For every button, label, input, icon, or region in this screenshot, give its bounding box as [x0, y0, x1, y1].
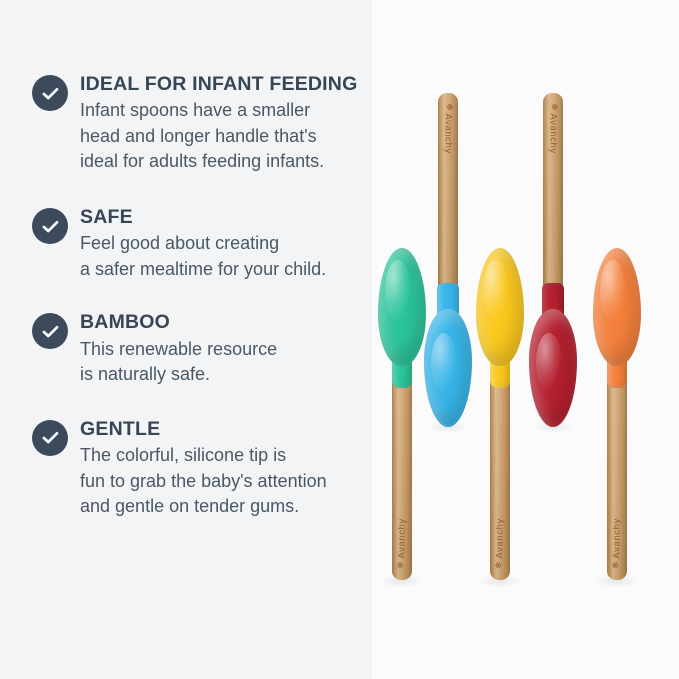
feature-line: is naturally safe.: [80, 362, 372, 388]
bamboo-handle: ❄Avanchy: [607, 378, 627, 580]
feature-title: IDEAL FOR INFANT FEEDING: [80, 72, 372, 96]
brand-name: Avanchy: [548, 113, 559, 153]
bamboo-handle: ❄Avanchy: [438, 93, 458, 291]
bamboo-handle: ❄Avanchy: [543, 93, 563, 291]
feature-title: BAMBOO: [80, 310, 372, 334]
feature-line: and gentle on tender gums.: [80, 494, 372, 520]
feature-description: Feel good about creating a safer mealtim…: [80, 231, 372, 282]
bee-logo-icon: ❄: [396, 561, 407, 569]
feature-description: This renewable resource is naturally saf…: [80, 337, 372, 388]
feature-title: SAFE: [80, 205, 372, 229]
feature-description: The colorful, silicone tip is fun to gra…: [80, 443, 372, 520]
feature-line: The colorful, silicone tip is: [80, 443, 372, 469]
feature-item-ideal-for-infant-feeding: IDEAL FOR INFANT FEEDING Infant spoons h…: [32, 72, 372, 175]
brand-name: Avanchy: [495, 518, 506, 558]
feature-line: fun to grab the baby's attention: [80, 469, 372, 495]
bamboo-handle: ❄Avanchy: [392, 378, 412, 580]
product-infographic: IDEAL FOR INFANT FEEDING Infant spoons h…: [0, 0, 679, 679]
silicone-bowl: [424, 283, 472, 427]
bee-logo-icon: ❄: [494, 561, 505, 569]
bee-logo-icon: ❄: [549, 103, 560, 111]
feature-item-gentle: GENTLE The colorful, silicone tip is fun…: [32, 417, 372, 520]
spoon-teal: ❄Avanchy: [378, 248, 426, 590]
feature-item-bamboo: BAMBOO This renewable resource is natura…: [32, 310, 372, 387]
brand-engraving: ❄Avanchy: [397, 509, 408, 579]
feature-line: This renewable resource: [80, 337, 372, 363]
check-circle-icon: [32, 208, 68, 244]
feature-description: Infant spoons have a smaller head and lo…: [80, 98, 372, 175]
brand-engraving: ❄Avanchy: [495, 509, 506, 579]
feature-item-safe: SAFE Feel good about creating a safer me…: [32, 205, 372, 282]
feature-line: Feel good about creating: [80, 231, 372, 257]
brand-engraving: ❄Avanchy: [443, 94, 454, 164]
brand-engraving: ❄Avanchy: [612, 509, 623, 579]
spoon-blue: ❄Avanchy: [424, 93, 472, 433]
brand-name: Avanchy: [397, 518, 408, 558]
check-circle-icon: [32, 313, 68, 349]
feature-title: GENTLE: [80, 417, 372, 441]
check-circle-icon: [32, 420, 68, 456]
feature-line: ideal for adults feeding infants.: [80, 149, 372, 175]
feature-line: Infant spoons have a smaller: [80, 98, 372, 124]
feature-line: head and longer handle that's: [80, 124, 372, 150]
silicone-bowl: [476, 248, 524, 390]
brand-name: Avanchy: [612, 518, 623, 558]
silicone-bowl: [593, 248, 641, 390]
silicone-bowl: [529, 283, 577, 427]
check-circle-icon: [32, 75, 68, 111]
bee-logo-icon: ❄: [611, 561, 622, 569]
bee-logo-icon: ❄: [444, 103, 455, 111]
product-photo: ❄Avanchy ❄Avanchy: [372, 0, 679, 679]
brand-engraving: ❄Avanchy: [548, 94, 559, 164]
spoon-red: ❄Avanchy: [529, 93, 577, 433]
feature-list: IDEAL FOR INFANT FEEDING Infant spoons h…: [32, 72, 372, 520]
silicone-bowl: [378, 248, 426, 390]
spoon-yellow: ❄Avanchy: [476, 248, 524, 590]
feature-line: a safer mealtime for your child.: [80, 257, 372, 283]
brand-name: Avanchy: [443, 113, 454, 153]
bamboo-handle: ❄Avanchy: [490, 378, 510, 580]
spoon-orange: ❄Avanchy: [593, 248, 641, 590]
